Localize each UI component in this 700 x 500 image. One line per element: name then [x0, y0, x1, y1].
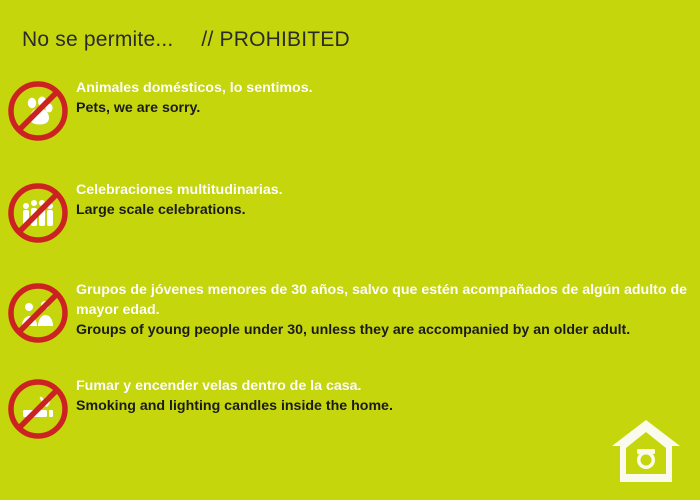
rule-icon-slot — [0, 280, 76, 344]
no-large-gathering-icon — [7, 182, 69, 244]
page-title-en: // PROHIBITED — [201, 28, 349, 52]
rule-item-smoking-candles: Fumar y encender velas dentro de la casa… — [0, 376, 700, 440]
rule-item-pets: Animales domésticos, lo sentimos. Pets, … — [0, 78, 700, 142]
rule-text-block: Animales domésticos, lo sentimos. Pets, … — [76, 78, 323, 118]
rule-text-es: Animales domésticos, lo sentimos. — [76, 78, 313, 98]
rule-text-es: Grupos de jóvenes menores de 30 años, sa… — [76, 280, 690, 320]
rule-text-block: Grupos de jóvenes menores de 30 años, sa… — [76, 280, 700, 340]
rule-item-celebrations: Celebraciones multitudinarias. Large sca… — [0, 180, 700, 244]
slide-canvas: No se permite... // PROHIBITED — [0, 0, 700, 500]
slide-title: No se permite... // PROHIBITED — [22, 28, 350, 52]
rule-icon-slot — [0, 78, 76, 142]
rule-item-young-groups: Grupos de jóvenes menores de 30 años, sa… — [0, 280, 700, 344]
rule-text-block: Fumar y encender velas dentro de la casa… — [76, 376, 403, 416]
page-title-es: No se permite... — [22, 28, 173, 52]
rule-icon-slot — [0, 180, 76, 244]
rules-list: Animales domésticos, lo sentimos. Pets, … — [0, 78, 700, 440]
rule-text-es: Celebraciones multitudinarias. — [76, 180, 283, 200]
rule-text-en: Large scale celebrations. — [76, 200, 283, 220]
house-logo — [610, 416, 682, 486]
no-smoking-candles-icon — [7, 378, 69, 440]
rule-text-en: Groups of young people under 30, unless … — [76, 320, 690, 340]
no-young-groups-icon — [7, 282, 69, 344]
no-pets-icon — [7, 80, 69, 142]
rule-icon-slot — [0, 376, 76, 440]
rule-text-es: Fumar y encender velas dentro de la casa… — [76, 376, 393, 396]
rule-text-en: Smoking and lighting candles inside the … — [76, 396, 393, 416]
rule-text-block: Celebraciones multitudinarias. Large sca… — [76, 180, 293, 220]
rule-text-en: Pets, we are sorry. — [76, 98, 313, 118]
